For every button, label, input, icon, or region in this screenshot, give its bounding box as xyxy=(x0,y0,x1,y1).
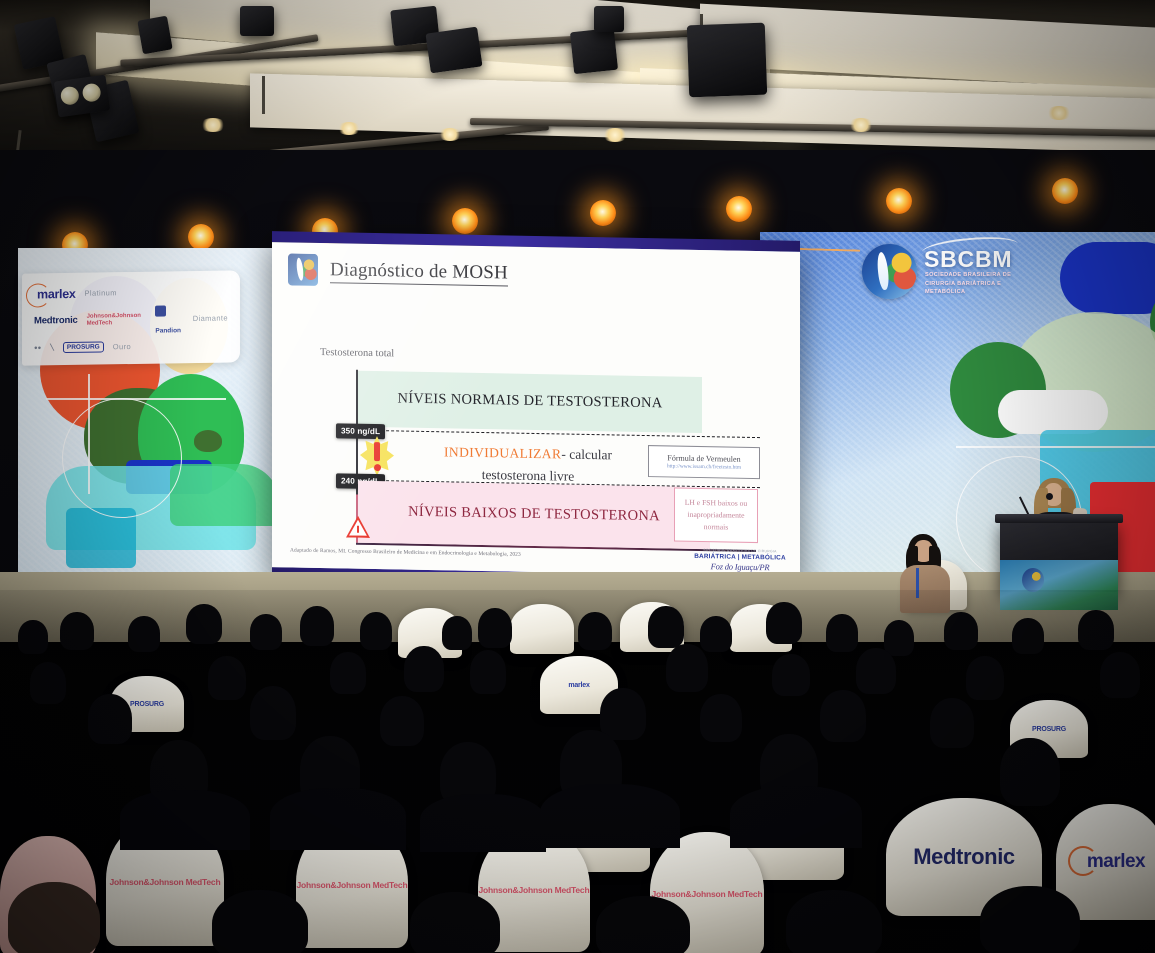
stage-light xyxy=(594,6,624,32)
audience-head xyxy=(18,620,48,654)
note-vermeulen-title: Fórmula de Vermeulen xyxy=(667,453,740,463)
audience-head xyxy=(60,612,94,650)
stage-light-pair xyxy=(54,75,111,118)
sponsor-row-diamante: Medtronic Johnson&Johnson MedTech Pandio… xyxy=(34,304,228,334)
audience-head xyxy=(250,614,282,650)
individualize-highlight: INDIVIDUALIZAR xyxy=(444,444,561,461)
sponsor-row-ouro: ●● ╲ PROSURG Ouro xyxy=(34,331,228,361)
warm-lamp xyxy=(726,196,752,222)
projection-screen: Diagnóstico de MOSH Testosterona total N… xyxy=(272,231,800,589)
audience-head xyxy=(30,662,66,704)
slide-citation: Adaptado de Ramos, MI. Congresso Brasile… xyxy=(290,547,521,557)
individualize-rest: - calcular xyxy=(561,446,612,462)
ceiling-downlight xyxy=(337,122,361,135)
audience-head xyxy=(186,604,222,644)
presentation-slide: Diagnóstico de MOSH Testosterona total N… xyxy=(272,242,800,577)
ceiling-downlight xyxy=(1046,106,1072,120)
microphone-icon xyxy=(1046,493,1053,500)
ceiling-downlight xyxy=(602,128,628,142)
audience-head xyxy=(1012,618,1044,654)
sponsor-pandion-logo: Pandion xyxy=(155,301,183,337)
chair-brand-label: marlex xyxy=(568,682,589,689)
axis-label: Testosterona total xyxy=(320,347,394,359)
audience-head xyxy=(826,614,858,652)
audience-head xyxy=(208,656,246,700)
chair-cover xyxy=(510,604,574,654)
audience-head-foreground xyxy=(410,892,500,953)
note-vermeulen: Fórmula de Vermeulen http://www.issam.ch… xyxy=(648,445,760,479)
audience-head xyxy=(856,648,896,694)
sponsor-marlex-logo: marlex xyxy=(34,286,76,301)
chair-brand-label: PROSURG xyxy=(1032,726,1066,733)
warm-lamp xyxy=(452,208,478,234)
audience-head-foreground xyxy=(8,882,100,953)
brand-bariatrica: BARIÁTRICA xyxy=(694,553,736,561)
audience-head xyxy=(404,646,444,692)
ceiling-downlight xyxy=(438,128,462,141)
sponsor-prosurg-logo: PROSURG xyxy=(63,341,104,353)
audience-head xyxy=(1100,652,1140,698)
audience-head xyxy=(250,686,296,740)
sponsor-medtronic-logo: Medtronic xyxy=(34,315,78,327)
audience-area: marlex PROSURG PROSURG Medtronic Medtron… xyxy=(0,590,1155,953)
sponsor-row-platinum: marlex Platinum xyxy=(34,277,228,307)
sbcbm-logo: SBCBM SOCIEDADE BRASILEIRA DE CIRURGIA B… xyxy=(862,240,1012,312)
audience-head xyxy=(700,616,732,652)
slide-title: Diagnóstico de MOSH xyxy=(330,259,508,286)
audience-head xyxy=(700,694,742,742)
audience-head xyxy=(1000,738,1060,806)
audience-head xyxy=(478,608,512,648)
audience-head xyxy=(300,606,334,646)
audience-shoulders xyxy=(540,784,680,848)
audience-head xyxy=(128,616,160,652)
sbcbm-slide-logo-icon xyxy=(288,253,318,286)
audience-head xyxy=(1078,610,1114,650)
chair-brand-label: Johnson&Johnson MedTech xyxy=(297,880,408,890)
audience-head xyxy=(648,606,684,648)
audience-head xyxy=(360,612,392,650)
warm-lamp xyxy=(1052,178,1078,204)
sbcbm-full-name: SOCIEDADE BRASILEIRA DE CIRURGIA BARIÁTR… xyxy=(925,271,1015,297)
chair-brand-label: Johnson&Johnson MedTech xyxy=(652,889,763,899)
audience-head xyxy=(766,602,802,644)
conference-photo: SBCBM SOCIEDADE BRASILEIRA DE CIRURGIA B… xyxy=(0,0,1155,953)
warm-lamp xyxy=(188,224,214,250)
warning-triangle-icon xyxy=(346,516,370,538)
sponsor-extra-logo: ●● xyxy=(34,345,41,351)
sponsor-tier-platinum: Platinum xyxy=(85,288,117,298)
sponsor-tier-ouro: Ouro xyxy=(113,342,131,351)
audience-head xyxy=(600,688,646,740)
stage-light xyxy=(425,27,482,74)
warm-lamp xyxy=(590,200,616,226)
stage-light xyxy=(570,28,618,74)
pa-speaker xyxy=(687,23,767,98)
sponsor-tier-diamante: Diamante xyxy=(193,313,228,323)
chair-brand-label: Johnson&Johnson MedTech xyxy=(110,877,221,887)
audience-shoulders xyxy=(270,788,406,850)
brand-script: Foz do Iguaçu/PR xyxy=(692,561,788,573)
audience-head-foreground xyxy=(786,890,882,953)
audience-head xyxy=(966,656,1004,700)
audience-shoulders xyxy=(730,786,862,848)
note-lh-fsh: LH e FSH baixos ou inapropriadamente nor… xyxy=(674,488,758,544)
audience-head-foreground xyxy=(596,896,690,953)
chair-brand-label: PROSURG xyxy=(130,701,164,708)
chair-brand-label: Medtronic xyxy=(913,844,1015,870)
sponsor-extra-logo-2: ╲ xyxy=(50,344,54,351)
note-vermeulen-url[interactable]: http://www.issam.ch/freetesto.htm xyxy=(667,464,741,471)
ceiling-downlight xyxy=(200,118,226,132)
sponsor-panel: marlex Platinum Medtronic Johnson&Johnso… xyxy=(22,270,240,365)
audience-head-foreground xyxy=(212,890,308,953)
audience-shoulders xyxy=(420,794,546,852)
ceiling xyxy=(0,0,1155,175)
audience-head xyxy=(884,620,914,656)
band-normal-levels: NÍVEIS NORMAIS DE TESTOSTERONA xyxy=(358,371,702,433)
audience-head-foreground xyxy=(980,886,1080,953)
audience-head xyxy=(820,690,866,742)
sbcbm-acronym: SBCBM xyxy=(924,246,1012,273)
audience-head xyxy=(88,694,132,744)
pandion-mark-icon xyxy=(155,305,166,316)
band-low-levels: NÍVEIS BAIXOS DE TESTOSTERONA xyxy=(358,481,710,549)
audience-head xyxy=(578,612,612,650)
chair-brand-label: marlex xyxy=(1077,851,1145,873)
audience-head xyxy=(442,616,472,650)
stage-light xyxy=(137,16,172,55)
stage-light xyxy=(240,6,274,36)
sponsor-jnj-logo: Johnson&Johnson MedTech xyxy=(87,312,147,327)
chair-brand-label: Johnson&Johnson MedTech xyxy=(479,885,590,895)
audience-shoulders xyxy=(120,790,250,850)
audience-head xyxy=(330,652,366,694)
audience-head xyxy=(380,696,424,746)
slide-brand-mark: SOCIEDADE BRASILEIRA DE CIRURGIA BARIÁTR… xyxy=(692,548,788,573)
audience-head xyxy=(772,654,810,696)
audience-head xyxy=(930,698,974,748)
brand-metabolica: METABÓLICA xyxy=(742,554,786,562)
ceiling-downlight xyxy=(848,118,874,132)
audience-head xyxy=(470,650,506,694)
warm-lamp xyxy=(886,188,912,214)
audience-head xyxy=(666,644,708,692)
sbcbm-shield-icon xyxy=(862,244,917,299)
audience-head xyxy=(944,612,978,650)
